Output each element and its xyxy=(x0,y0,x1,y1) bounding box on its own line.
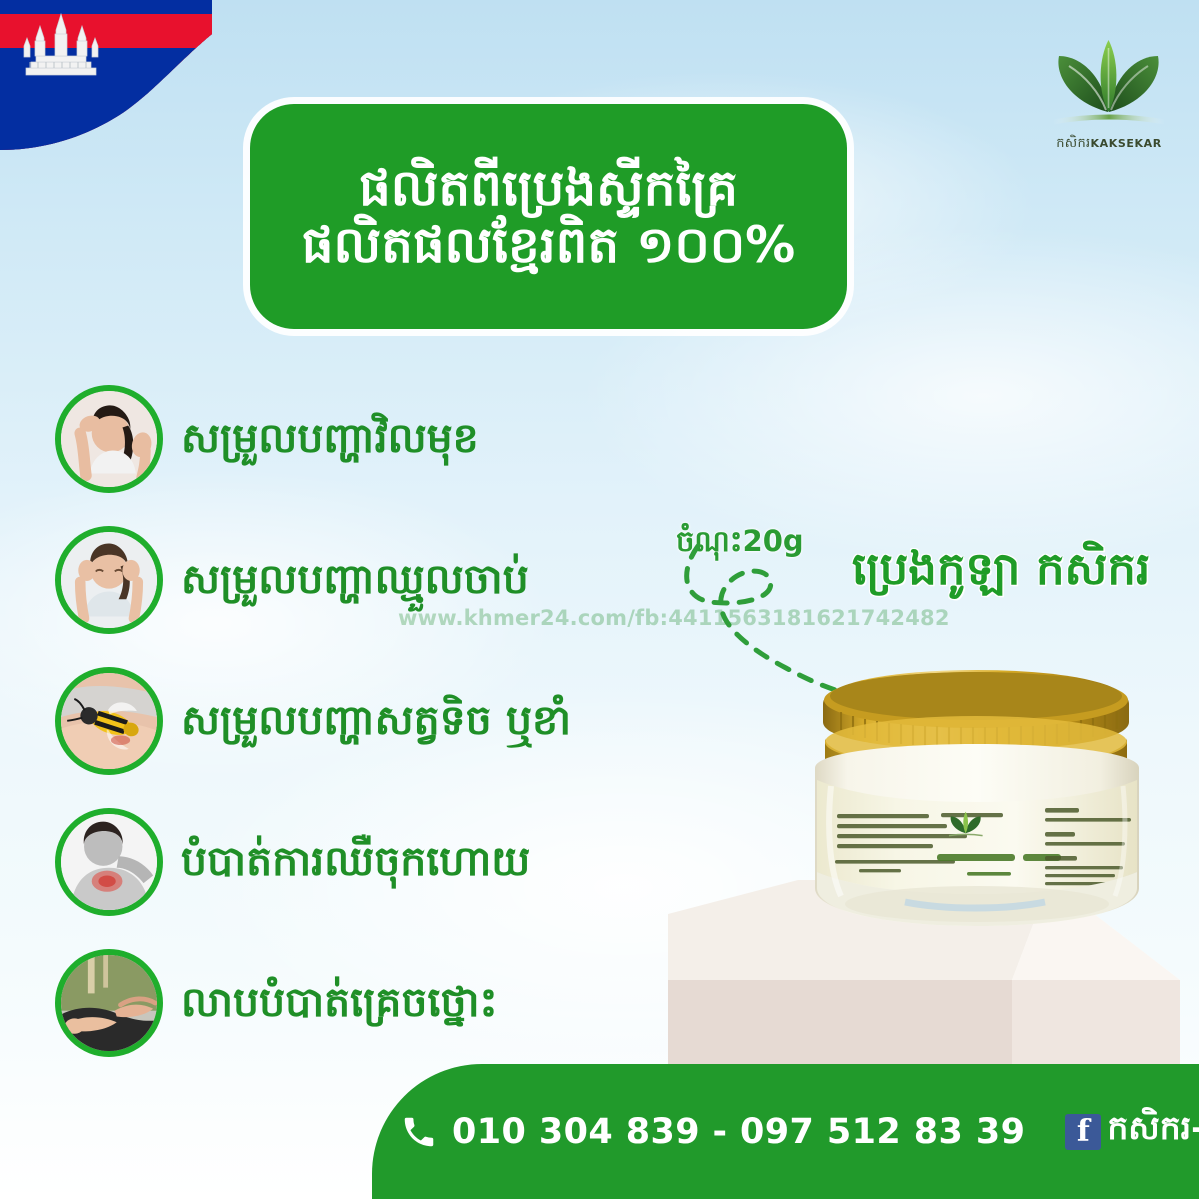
migraine-woman-icon xyxy=(55,526,163,634)
phone-icon xyxy=(400,1113,438,1151)
capacity-callout: ចំណុះ20g xyxy=(676,524,804,566)
headline-banner: ផលិតពីប្រេងស្ទីកគ្រៃ ផលិតផលខ្មែរពិត ១០០% xyxy=(250,104,847,329)
contact-bar: 010 304 839 - 097 512 83 39 f កសិករ-Kaks… xyxy=(372,1064,1199,1199)
three-leaf-icon xyxy=(1033,28,1185,140)
facebook-page-name[interactable]: កសិករ-Kaksekar xyxy=(1107,1108,1199,1156)
facebook-icon[interactable]: f xyxy=(1065,1114,1101,1150)
benefit-label: សម្រួលបញ្ហាវិលមុខ xyxy=(181,416,479,461)
logo-name-km: កសិករ xyxy=(1056,136,1090,151)
logo-wordmark: កសិករKAKSEKAR xyxy=(1033,135,1185,154)
headache-woman-icon xyxy=(55,385,163,493)
massage-leg-icon xyxy=(55,949,163,1057)
kaksekar-logo: កសិករKAKSEKAR xyxy=(1033,28,1185,156)
headline-line-2: ផលិតផលខ្មែរពិត ១០០% xyxy=(302,219,796,272)
logo-name-en: KAKSEKAR xyxy=(1090,137,1161,150)
poster-canvas: កសិករKAKSEKAR ផលិតពីប្រេងស្ទីកគ្រៃ ផលិតផ… xyxy=(0,0,1199,1199)
phone-numbers[interactable]: 010 304 839 - 097 512 83 39 xyxy=(452,1112,1025,1152)
benefit-label: សម្រួលបញ្ហាឈ្មួលចាប់ xyxy=(181,557,529,602)
benefit-item: សម្រួលបញ្ហាវិលមុខ xyxy=(55,382,695,495)
site-watermark: www.khmer24.com/fb:4411563181621742482 xyxy=(398,606,868,630)
headline-line-1: ផលិតពីប្រេងស្ទីកគ្រៃ xyxy=(359,162,738,215)
product-jar xyxy=(795,656,1165,956)
benefit-item: បំបាត់ការឈឺចុកហោយ xyxy=(55,805,695,918)
benefit-label: សម្រួលបញ្ហាសត្វទិច ឬខាំ xyxy=(181,698,571,743)
product-name: ប្រេងកូឡា កសិករ xyxy=(852,540,1150,606)
benefit-item: លាបបំបាត់គ្រេចថ្នោះ xyxy=(55,946,695,1059)
insect-sting-icon xyxy=(55,667,163,775)
benefits-list: សម្រួលបញ្ហាវិលមុខ xyxy=(55,382,695,1087)
benefit-label: បំបាត់ការឈឺចុកហោយ xyxy=(181,839,530,884)
benefit-item: សម្រួលបញ្ហាសត្វទិច ឬខាំ xyxy=(55,664,695,777)
benefit-label: លាបបំបាត់គ្រេចថ្នោះ xyxy=(181,980,498,1025)
facebook-link[interactable]: f កសិករ-Kaksekar xyxy=(1065,1108,1199,1156)
cambodia-flag xyxy=(0,0,212,166)
neck-pain-icon xyxy=(55,808,163,916)
